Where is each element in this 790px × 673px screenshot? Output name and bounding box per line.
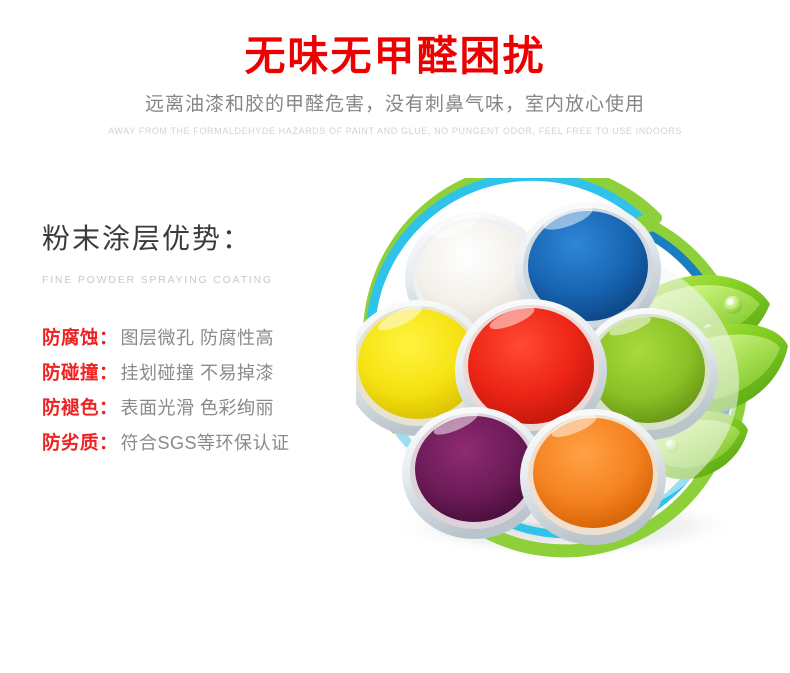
feature-colon: ： [99, 359, 118, 385]
feature-description: 图层微孔 防腐性高 [121, 324, 275, 350]
feature-colon: ： [99, 429, 118, 455]
feature-description: 表面光滑 色彩绚丽 [121, 394, 275, 420]
feature-colon: ： [99, 394, 118, 420]
feature-item-anti-corrosion: 防腐蚀 ： 图层微孔 防腐性高 [42, 324, 372, 350]
header-block: 无味无甲醛困扰 远离油漆和胶的甲醛危害，没有刺鼻气味，室内放心使用 AWAY F… [0, 34, 790, 136]
feature-item-quality-assured: 防劣质 ： 符合SGS等环保认证 [42, 429, 372, 455]
section-title: 粉末涂层优势： [42, 222, 372, 256]
orange-powder-jar [520, 409, 666, 545]
feature-label: 防劣质 [42, 429, 99, 455]
feature-label: 防褪色 [42, 394, 99, 420]
feature-colon: ： [99, 324, 118, 350]
feature-description: 挂划碰撞 不易掉漆 [121, 359, 275, 385]
feature-list: 防腐蚀 ： 图层微孔 防腐性高 防碰撞 ： 挂划碰撞 不易掉漆 防褪色 ： 表面… [42, 324, 372, 455]
advantages-panel: 粉末涂层优势： FINE POWDER SPRAYING COATING 防腐蚀… [42, 222, 372, 464]
page-headline: 无味无甲醛困扰 [0, 34, 790, 80]
feature-description: 符合SGS等环保认证 [121, 429, 290, 455]
product-image [356, 178, 790, 568]
page-subheadline-english: AWAY FROM THE FORMALDEHYDE HAZARDS OF PA… [0, 126, 790, 136]
feature-label: 防腐蚀 [42, 324, 99, 350]
feature-item-anti-impact: 防碰撞 ： 挂划碰撞 不易掉漆 [42, 359, 372, 385]
page-subheadline: 远离油漆和胶的甲醛危害，没有刺鼻气味，室内放心使用 [0, 94, 790, 117]
section-title-english: FINE POWDER SPRAYING COATING [42, 274, 372, 286]
feature-item-anti-fade: 防褪色 ： 表面光滑 色彩绚丽 [42, 394, 372, 420]
feature-label: 防碰撞 [42, 359, 99, 385]
